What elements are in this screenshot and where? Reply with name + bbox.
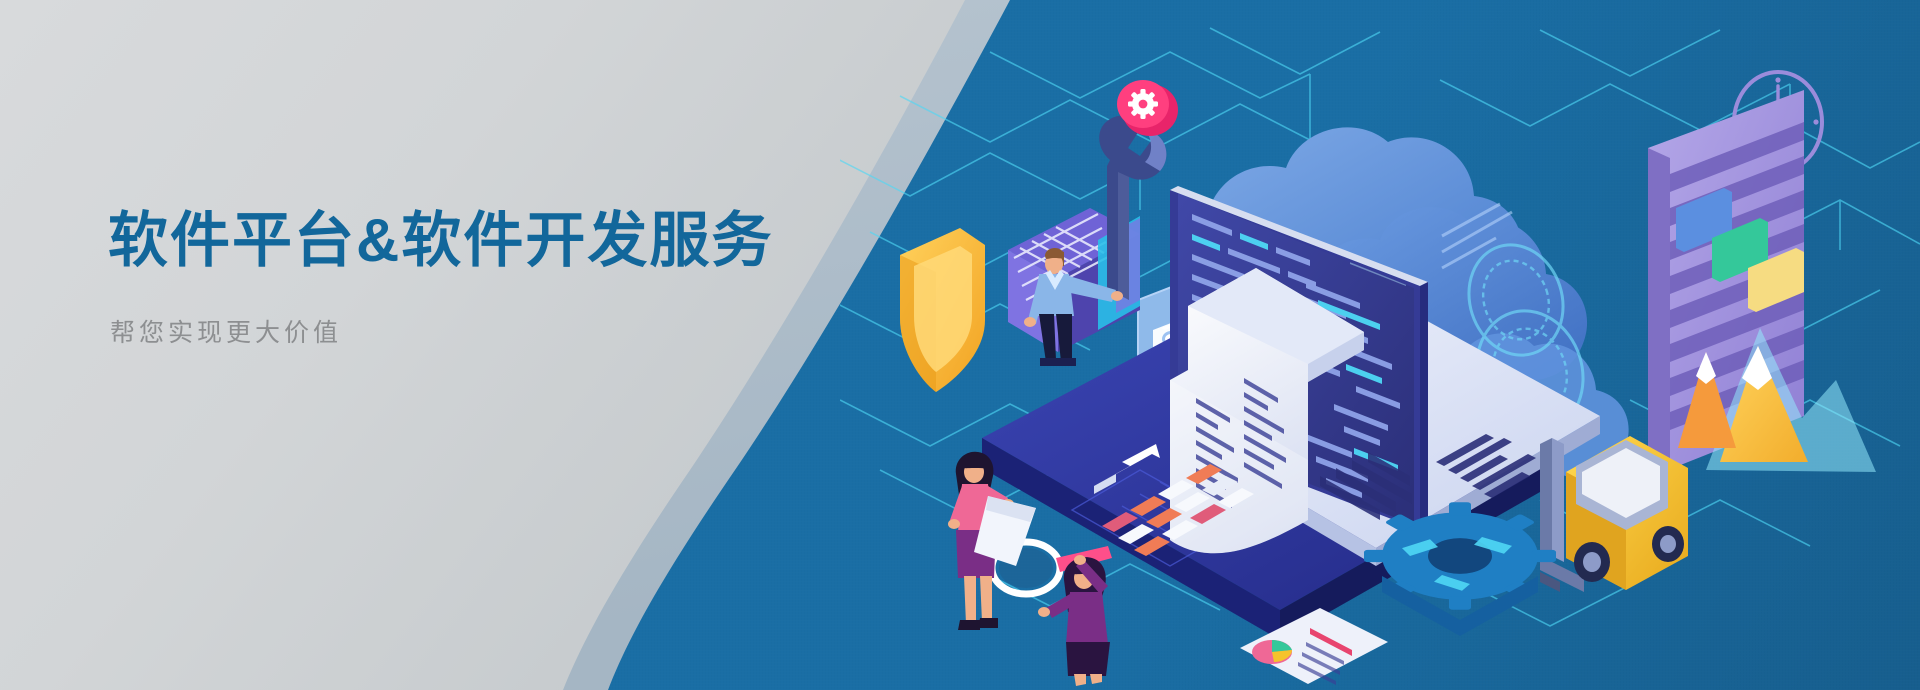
cog-wheel-icon	[1364, 502, 1556, 636]
shield-icon	[900, 228, 985, 392]
page-subtitle: 帮您实现更大价值	[110, 313, 773, 349]
hero-copy: 软件平台&软件开发服务 帮您实现更大价值	[108, 206, 773, 349]
forklift-vehicle	[1540, 436, 1688, 592]
hero-banner: 软件平台&软件开发服务 帮您实现更大价值	[0, 0, 1920, 690]
hero-illustration	[840, 0, 1920, 690]
page-title: 软件平台&软件开发服务	[108, 206, 773, 275]
